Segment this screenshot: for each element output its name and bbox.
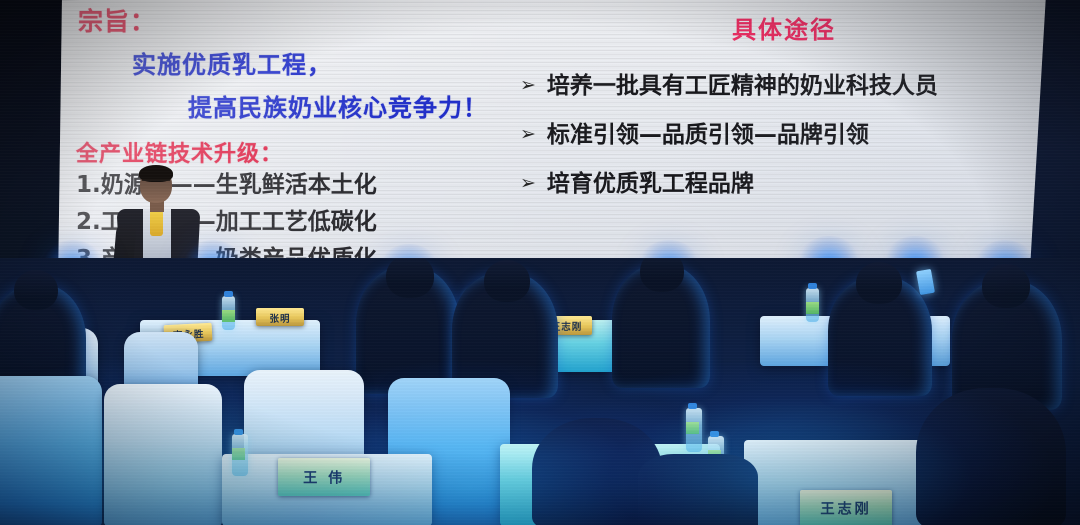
- chair: [0, 376, 102, 525]
- slide-purpose-label: 宗旨：: [78, 2, 506, 38]
- bottle-cap: [710, 431, 719, 437]
- bottle-cap: [808, 283, 817, 289]
- bottle-cap: [234, 429, 243, 435]
- list-item: ➢ 培育优质乳工程品牌: [520, 173, 1020, 196]
- water-bottle: [806, 288, 819, 322]
- name-card: 张明: [256, 308, 304, 326]
- bottle-label: [806, 302, 819, 314]
- slide-chain-label: 全产业链技术升级：: [76, 136, 506, 168]
- bottle-cap: [688, 403, 697, 409]
- name-card: 王 伟: [278, 458, 370, 496]
- bottle-cap: [224, 291, 233, 297]
- name-card-label: 张明: [270, 310, 291, 324]
- audience-head: [856, 262, 902, 304]
- audience-area: 李永胜 张明 王志刚: [0, 258, 1080, 525]
- glasses-icon: [142, 179, 170, 185]
- arrow-bullet-icon: ➢: [520, 125, 536, 144]
- slide-right-column: 具体途径 ➢ 培养一批具有工匠精神的奶业科技人员 ➢ 标准引领—品质引领—品牌引…: [520, 10, 1020, 222]
- slide-right-title: 具体途径: [548, 10, 1020, 45]
- projection-screen: 宗旨： 实施优质乳工程， 提高民族奶业核心竞争力！ 全产业链技术升级： 1.奶源…: [58, 0, 1046, 300]
- slide-purpose-line-2: 提高民族奶业核心竞争力！: [188, 88, 506, 123]
- bottle-label: [232, 448, 245, 460]
- conference-photo: 宗旨： 实施优质乳工程， 提高民族奶业核心竞争力！ 全产业链技术升级： 1.奶源…: [0, 0, 1080, 525]
- audience-head: [640, 258, 684, 292]
- list-item: ➢ 培养一批具有工匠精神的奶业科技人员: [520, 75, 1020, 98]
- audience-head: [386, 258, 434, 298]
- name-card: 王志刚: [800, 490, 892, 525]
- audience-person: [638, 454, 758, 525]
- arrow-bullet-icon: ➢: [520, 174, 536, 193]
- audience-head: [14, 270, 58, 310]
- list-item-label: 培育优质乳工程品牌: [547, 173, 754, 196]
- list-item: ➢ 标准引领—品质引领—品牌引领: [520, 124, 1020, 147]
- water-bottle: [686, 408, 702, 452]
- list-item-label: 标准引领—品质引领—品牌引领: [547, 124, 869, 147]
- arrow-bullet-icon: ➢: [520, 76, 536, 95]
- chair: [104, 384, 222, 525]
- bottle-label: [222, 310, 235, 322]
- speaker-tie: [150, 210, 163, 236]
- list-item-label: 培养一批具有工匠精神的奶业科技人员: [547, 75, 938, 98]
- audience-head: [484, 260, 530, 302]
- slide-bullet-list: ➢ 培养一批具有工匠精神的奶业科技人员 ➢ 标准引领—品质引领—品牌引领 ➢ 培…: [520, 75, 1020, 196]
- audience-head: [982, 264, 1030, 308]
- bottle-label: [686, 422, 699, 434]
- water-bottle: [232, 434, 248, 476]
- audience-person: [916, 388, 1066, 525]
- name-card-label: 王志刚: [820, 498, 871, 518]
- slide-purpose-line-1: 实施优质乳工程，: [132, 45, 506, 80]
- name-card-label: 王 伟: [303, 467, 345, 487]
- water-bottle: [222, 296, 235, 330]
